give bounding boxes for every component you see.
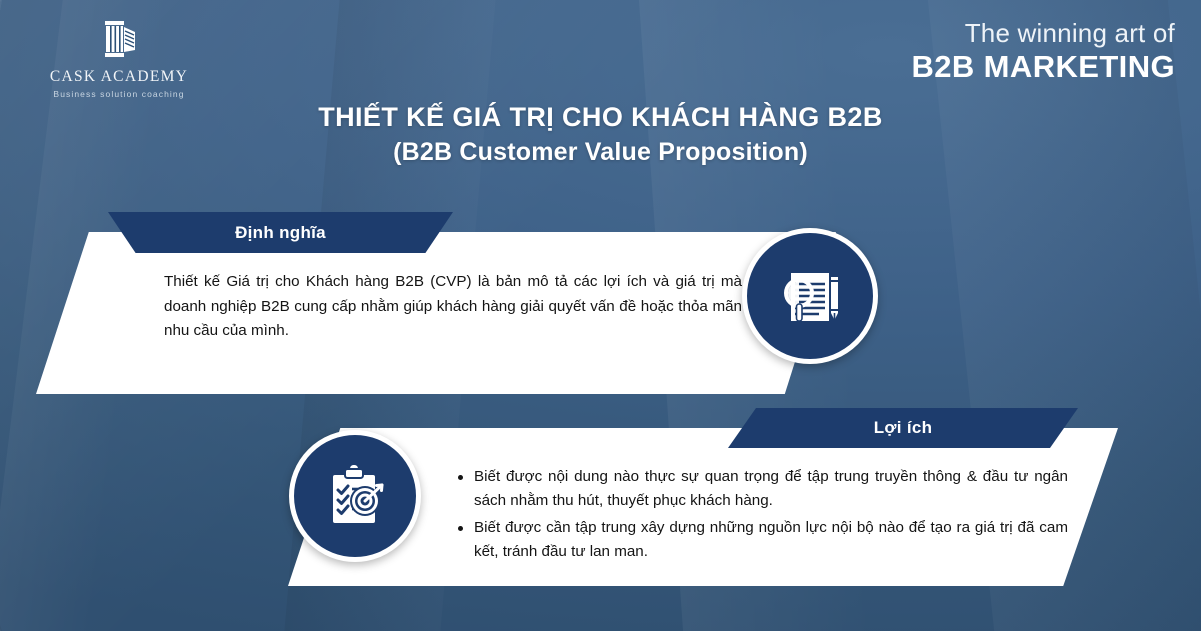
page-title-line1: THIẾT KẾ GIÁ TRỊ CHO KHÁCH HÀNG B2B bbox=[0, 100, 1201, 136]
definition-body-text: Thiết kế Giá trị cho Khách hàng B2B (CVP… bbox=[164, 270, 742, 344]
campaign-brand: The winning art of B2B MARKETING bbox=[911, 18, 1175, 85]
page-title: THIẾT KẾ GIÁ TRỊ CHO KHÁCH HÀNG B2B (B2B… bbox=[0, 100, 1201, 169]
page-title-line2: (B2B Customer Value Proposition) bbox=[0, 136, 1201, 169]
list-item: Biết được cần tập trung xây dựng những n… bbox=[456, 516, 1068, 565]
definition-heading-ribbon: Định nghĩa bbox=[108, 212, 453, 253]
definition-heading-label: Định nghĩa bbox=[235, 223, 326, 243]
definition-section: Định nghĩa Thiết kế Giá trị cho Khách hà… bbox=[36, 212, 836, 394]
document-magnifier-pencil-icon bbox=[771, 257, 849, 335]
logo-tagline: Business solution coaching bbox=[14, 89, 224, 99]
logo-name: CASK ACADEMY bbox=[14, 68, 224, 86]
benefits-list: Biết được nội dung nào thực sự quan trọn… bbox=[456, 465, 1068, 566]
definition-icon-badge bbox=[742, 228, 878, 364]
campaign-name: B2B MARKETING bbox=[911, 49, 1175, 86]
benefits-heading-label: Lợi ích bbox=[874, 418, 933, 438]
clipboard-checklist-target-icon bbox=[316, 457, 394, 535]
book-stack-icon bbox=[96, 16, 142, 62]
list-item: Biết được nội dung nào thực sự quan trọn… bbox=[456, 465, 1068, 514]
campaign-tagline: The winning art of bbox=[911, 18, 1175, 49]
benefits-heading-ribbon: Lợi ích bbox=[728, 408, 1078, 448]
benefits-icon-badge bbox=[289, 430, 421, 562]
infographic-canvas: CASK ACADEMY Business solution coaching … bbox=[0, 0, 1201, 631]
brand-logo: CASK ACADEMY Business solution coaching bbox=[14, 16, 224, 99]
